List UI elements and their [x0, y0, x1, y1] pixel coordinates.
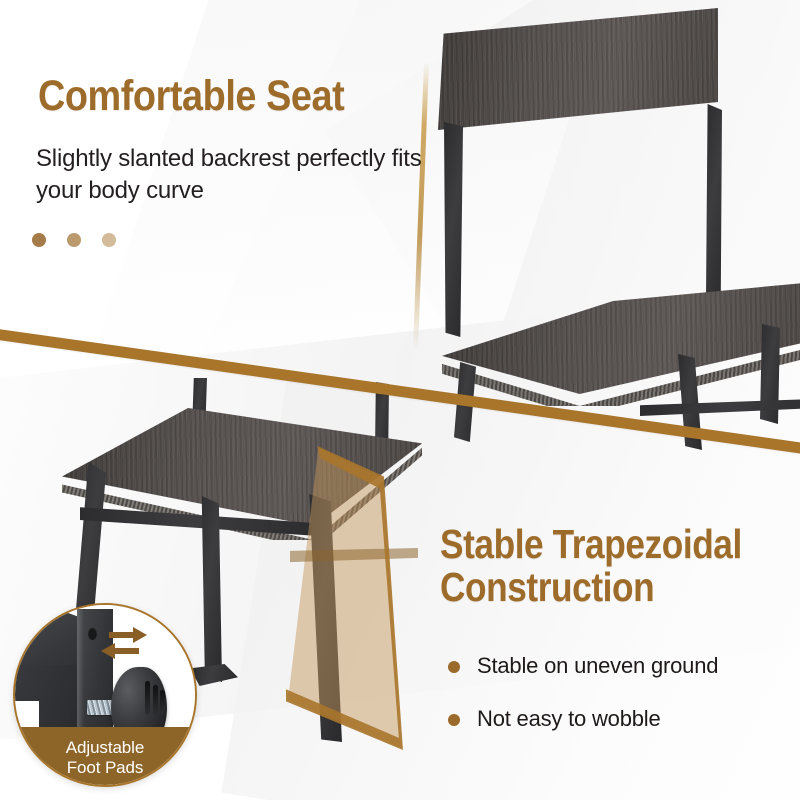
callout-caption-line-2: Foot Pads [15, 758, 195, 779]
bullet-dot-icon [448, 714, 460, 726]
bullet-dot-icon [448, 661, 460, 673]
chair-seat-panel [442, 282, 800, 394]
callout-adjustable-foot-pads: Adjustable Foot Pads [13, 603, 197, 787]
decorative-dot-2 [67, 233, 81, 247]
bullet-text: Not easy to wobble [477, 705, 661, 733]
chair-backrest-panel [438, 8, 718, 130]
foot-pad-rib-1 [145, 681, 150, 715]
bullet-text: Stable on uneven ground [477, 652, 718, 680]
decorative-dot-group [32, 233, 116, 247]
list-item: Not easy to wobble [448, 705, 788, 733]
headline-stable-trapezoidal-construction: Stable Trapezoidal Construction [440, 523, 750, 609]
chair-photo-top [430, 0, 800, 434]
foot-pad-bolt-hole [88, 627, 97, 640]
chair2-foot-glide [190, 664, 238, 686]
chair-back-post-right [706, 104, 722, 304]
decorative-dot-1 [32, 233, 46, 247]
arrow-right-icon [109, 627, 147, 643]
foot-pad-rib-2 [153, 685, 158, 715]
callout-caption-line-1: Adjustable [15, 738, 195, 759]
chair-back-post-left [444, 122, 463, 337]
foot-pad-rib-3 [160, 690, 165, 714]
arrow-left-icon [101, 643, 139, 659]
decorative-dot-3 [102, 233, 116, 247]
headline-comfortable-seat: Comfortable Seat [38, 74, 390, 119]
feature-bullet-list: Stable on uneven ground Not easy to wobb… [448, 652, 788, 757]
subcopy-comfortable-seat: Slightly slanted backrest perfectly fits… [36, 143, 426, 208]
callout-caption: Adjustable Foot Pads [15, 738, 195, 779]
infographic-canvas: Comfortable Seat Slightly slanted backre… [0, 0, 800, 800]
list-item: Stable on uneven ground [448, 652, 788, 680]
